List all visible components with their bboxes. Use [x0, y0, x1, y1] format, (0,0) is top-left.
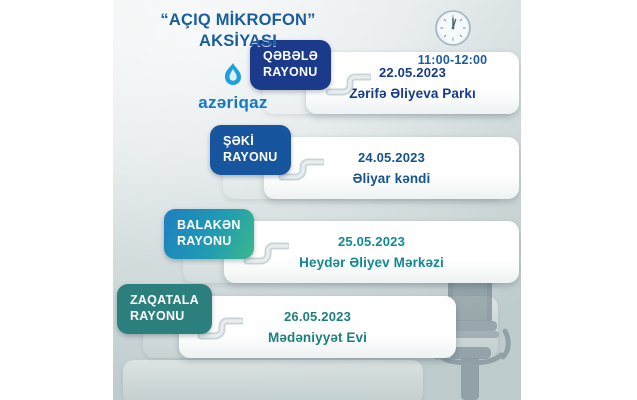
schedule-row: ŞƏKİ RAYONU 24.05.2023 Əliyar kəndi: [113, 125, 521, 199]
poster-content-area: “AÇIQ MİKROFON” AKSİYASI azəriqaz: [113, 0, 521, 400]
event-date: 25.05.2023: [338, 234, 405, 249]
connector-plug-icon: [325, 70, 371, 100]
time-block: 11:00-12:00: [385, 8, 520, 67]
headline-line-2: AKSİYASI: [113, 31, 363, 52]
event-date: 24.05.2023: [358, 150, 425, 165]
poster-canvas: “AÇIQ MİKROFON” AKSİYASI azəriqaz: [0, 0, 637, 400]
headline-line-1: “AÇIQ MİKROFON”: [160, 11, 315, 29]
time-range-label: 11:00-12:00: [385, 53, 520, 67]
page-title: “AÇIQ MİKROFON” AKSİYASI: [113, 10, 363, 52]
event-venue: Heydər Əliyev Mərkəzi: [299, 255, 444, 270]
event-venue: Əliyar kəndi: [353, 171, 431, 186]
flame-icon: [220, 62, 246, 90]
region-line-2: RAYONU: [223, 150, 278, 166]
ghost-panel: [123, 360, 423, 400]
region-line-2: RAYONU: [130, 309, 199, 325]
logo-wordmark: azəriqaz: [143, 93, 323, 113]
region-line-2: RAYONU: [177, 234, 241, 250]
region-line-1: ŞƏKİ: [223, 134, 254, 148]
event-venue: Mədəniyyət Evi: [268, 330, 367, 345]
region-tag: BALAKƏN RAYONU: [164, 209, 254, 259]
region-line-1: BALAKƏN: [177, 218, 241, 232]
event-date: 22.05.2023: [379, 65, 446, 80]
azeriqaz-logo: azəriqaz: [143, 62, 323, 113]
region-tag: ZAQATALA RAYONU: [117, 284, 212, 334]
region-line-1: ZAQATALA: [130, 293, 199, 307]
schedule-row: BALAKƏN RAYONU 25.05.2023 Heydər Əliyev …: [113, 209, 521, 283]
region-tag: ŞƏKİ RAYONU: [210, 125, 291, 175]
clock-icon: [433, 8, 473, 48]
event-date: 26.05.2023: [284, 309, 351, 324]
